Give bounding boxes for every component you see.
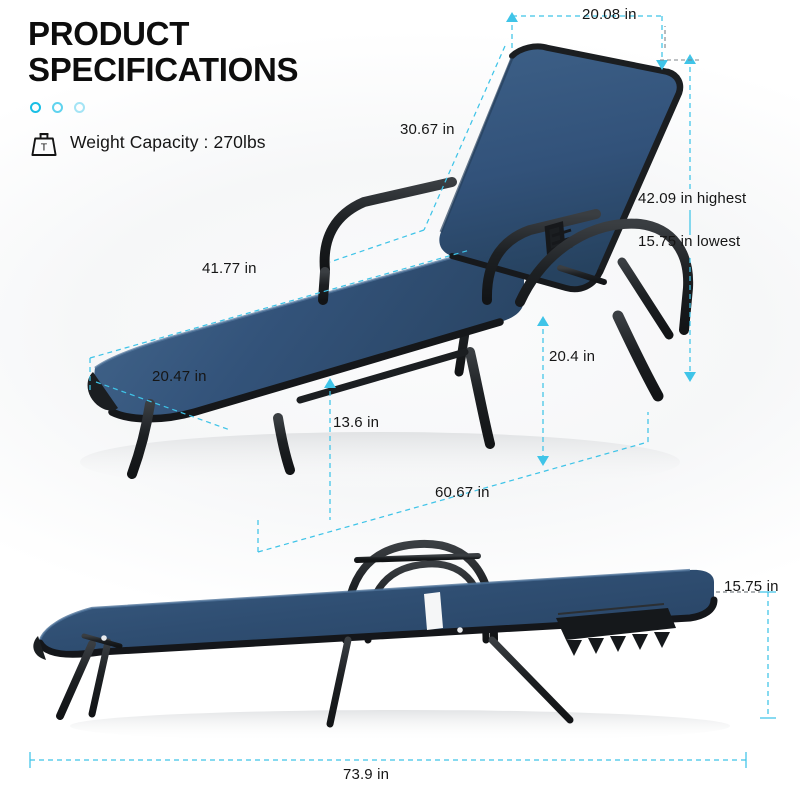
dim-seat-width-label: 20.47 in (152, 368, 207, 385)
floor-shadow (80, 432, 680, 492)
floor-shadow-side (70, 710, 730, 742)
product-specifications-sheet: PRODUCT SPECIFICATIONS T Weight Capacity… (0, 0, 800, 800)
leg-rivet (101, 635, 107, 641)
dim-flat-height-label: 15.75 in (724, 578, 779, 595)
dim-back-height-highest-label: 42.09 in highest (638, 190, 746, 207)
dim-base-depth-label: 60.67 in (435, 484, 490, 501)
dimension-connector-gray (660, 26, 700, 60)
dim-flat-length-label: 73.9 in (343, 766, 389, 783)
dim-seat-height-label: 20.4 in (549, 348, 595, 365)
product-illustration (0, 0, 800, 800)
chaise-side-view (33, 544, 730, 742)
dim-back-height-lowest-label: 15.75 in lowest (638, 233, 740, 250)
dim-footend-height-label: 13.6 in (333, 414, 379, 431)
pad-hinge-slot (424, 592, 443, 630)
dim-seat-length-label: 41.77 in (202, 260, 257, 277)
dim-back-width-label: 20.08 in (582, 6, 637, 23)
chaise-angled-view (80, 46, 688, 492)
frame-rivet (457, 627, 463, 633)
dim-back-length-label: 30.67 in (400, 121, 455, 138)
